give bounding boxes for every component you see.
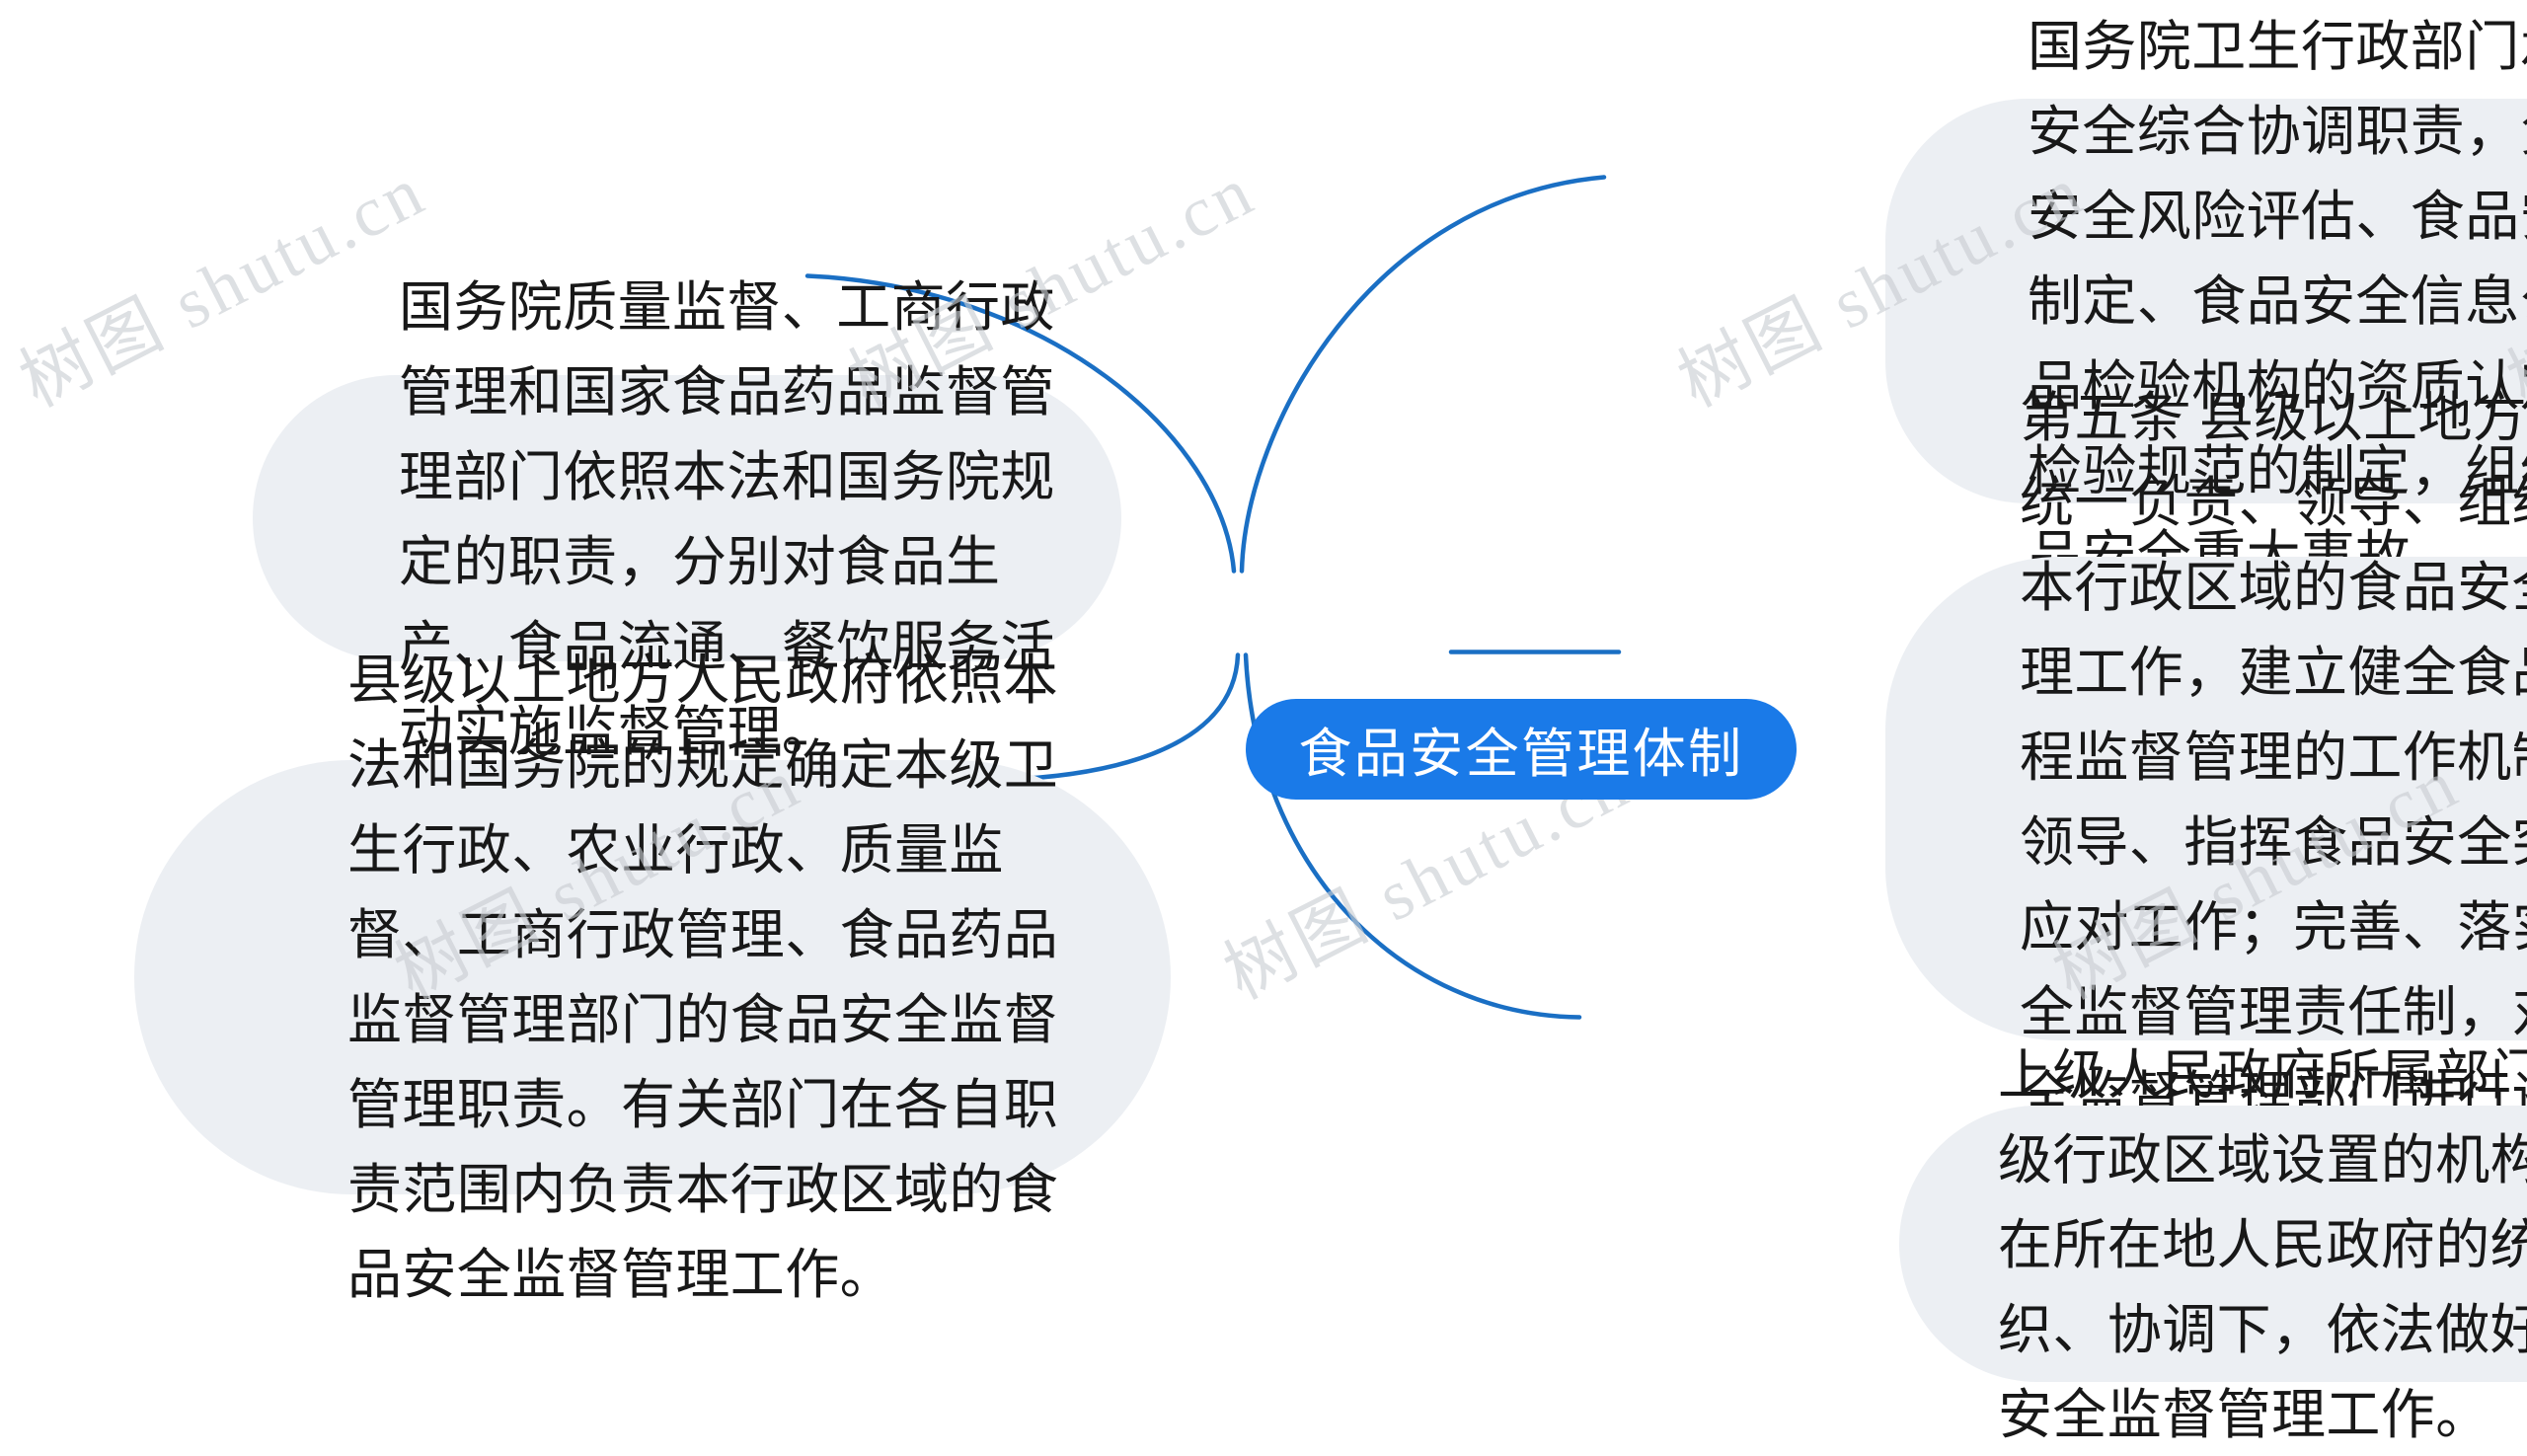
branch-node-bottom-right-text: 上级人民政府所属部门在下级行政区域设置的机构应当在所在地人民政府的统一组织、协调… xyxy=(1998,1032,2527,1456)
root-node-label: 食品安全管理体制 xyxy=(1298,711,1743,788)
branch-node-mid-right[interactable]: 第五条 县级以上地方人民政府统一负责、领导、组织、协调本行政区域的食品安全监督管… xyxy=(1885,557,2527,1040)
branch-node-bottom-left[interactable]: 县级以上地方人民政府依照本法和国务院的规定确定本级卫生行政、农业行政、质量监督、… xyxy=(134,760,1171,1194)
branch-node-bottom-right[interactable]: 上级人民政府所属部门在下级行政区域设置的机构应当在所在地人民政府的统一组织、协调… xyxy=(1899,1106,2527,1382)
branch-node-top-left[interactable]: 国务院质量监督、工商行政管理和国家食品药品监督管理部门依照本法和国务院规定的职责… xyxy=(253,375,1121,661)
root-node[interactable]: 食品安全管理体制 xyxy=(1246,699,1797,800)
mindmap-canvas: 国务院质量监督、工商行政管理和国家食品药品监督管理部门依照本法和国务院规定的职责… xyxy=(0,0,2527,1224)
connector-top-right xyxy=(1242,178,1604,572)
branch-node-bottom-left-text: 县级以上地方人民政府依照本法和国务院的规定确定本级卫生行政、农业行政、质量监督、… xyxy=(347,638,1104,1317)
